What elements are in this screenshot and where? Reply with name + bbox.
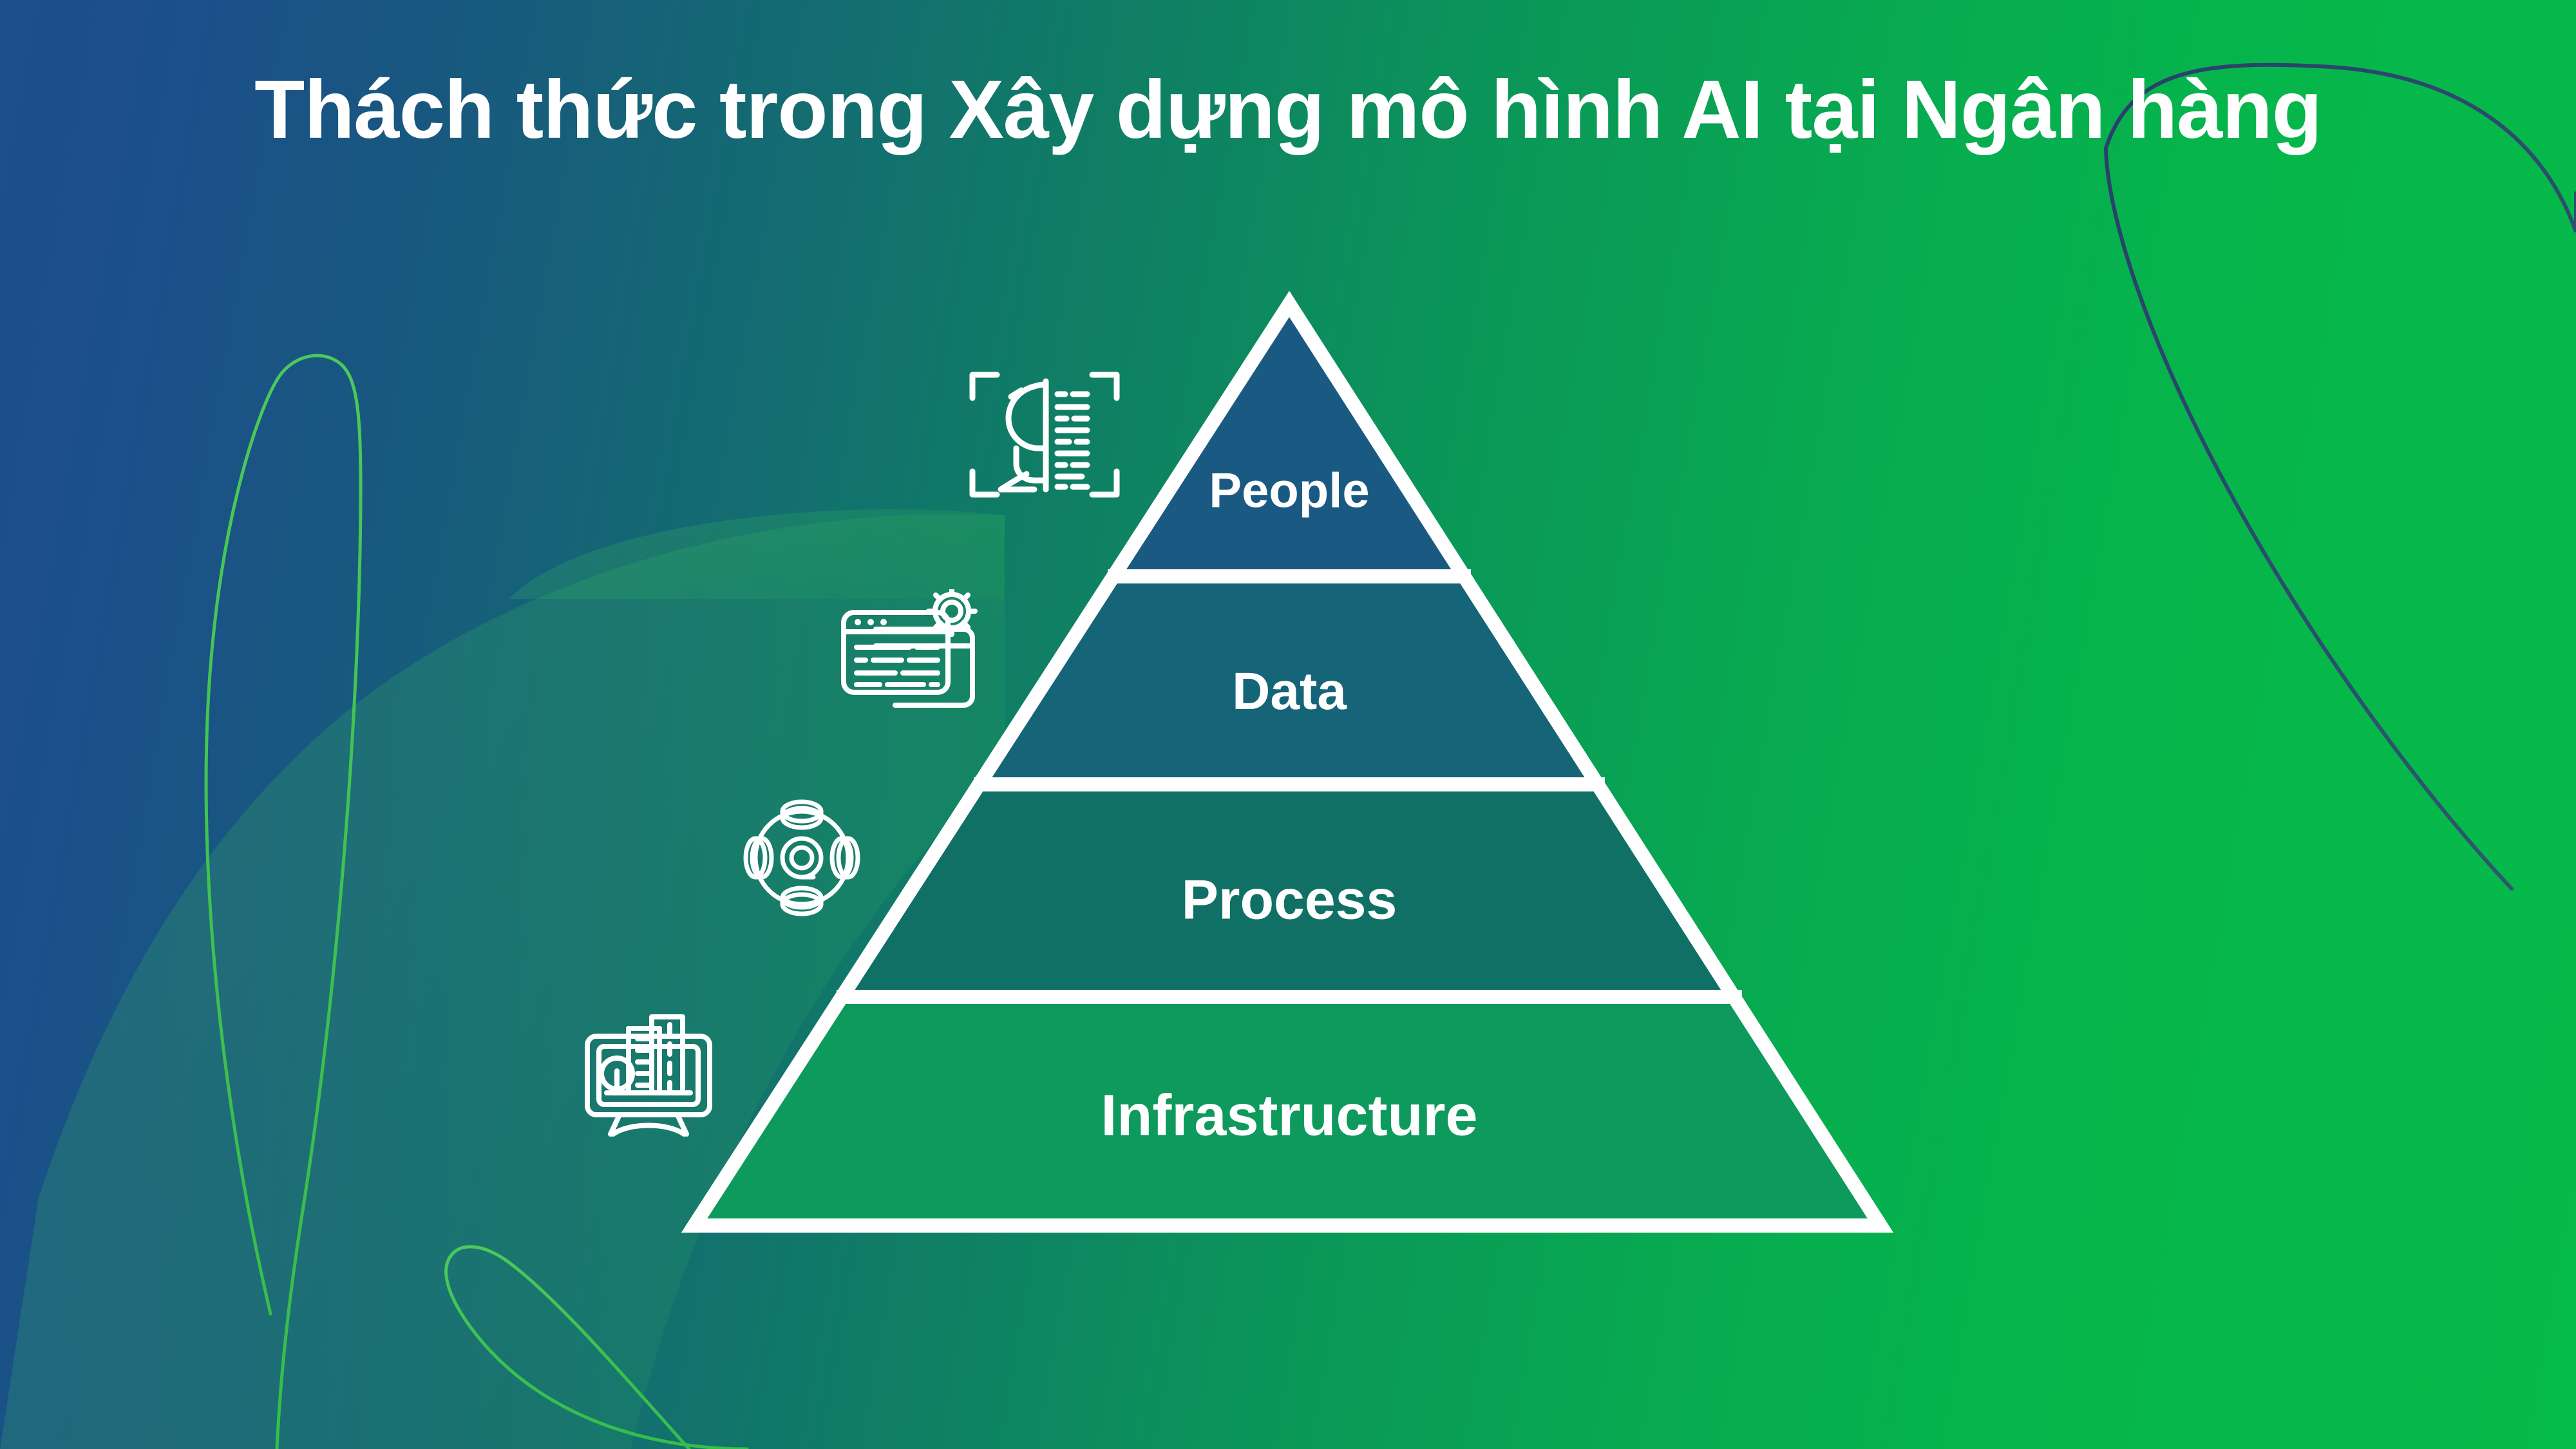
process-network-icon xyxy=(737,793,866,922)
pyramid-label-infrastructure: Infrastructure xyxy=(1101,1083,1477,1150)
pyramid-label-data: Data xyxy=(1232,661,1347,722)
slide-canvas: Thách thức trong Xây dựng mô hình AI tại… xyxy=(0,0,2576,1449)
pyramid-label-people: People xyxy=(1209,463,1369,519)
pyramid-tier-people[interactable] xyxy=(1113,304,1465,576)
code-window-gear-icon xyxy=(837,589,985,712)
person-scan-icon xyxy=(967,367,1122,502)
city-monitor-icon xyxy=(580,1008,728,1137)
pyramid-label-process: Process xyxy=(1182,869,1397,933)
pyramid-diagram xyxy=(0,0,2576,1449)
